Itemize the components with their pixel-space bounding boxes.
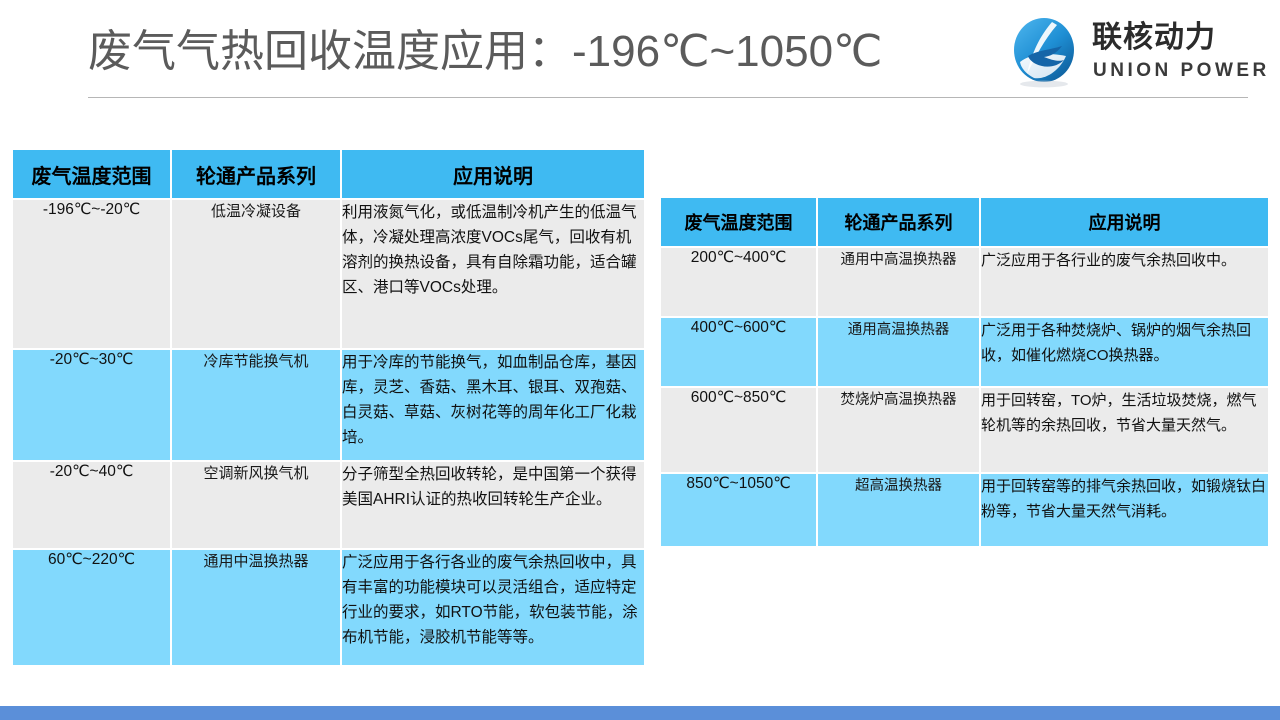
logo-name-cn: 联核动力 — [1092, 22, 1216, 54]
cell-application-note: 利用液氮气化，或低温制冷机产生的低温气体，冷凝处理高浓度VOCs尾气，回收有机溶… — [342, 200, 644, 348]
footer-accent-bar — [0, 706, 1280, 720]
table-row: 850℃~1050℃超高温换热器用于回转窑等的排气余热回收，如锻烧钛白粉等，节省… — [661, 474, 1268, 546]
column-header-product-series: 轮通产品系列 — [172, 150, 340, 198]
table-row: -196℃~-20℃低温冷凝设备利用液氮气化，或低温制冷机产生的低温气体，冷凝处… — [13, 200, 644, 348]
cell-temperature-range: -20℃~30℃ — [13, 350, 170, 460]
cell-application-note: 广泛应用于各行各业的废气余热回收中，具有丰富的功能模块可以灵活组合，适应特定行业… — [342, 550, 644, 665]
cell-product-series: 冷库节能换气机 — [172, 350, 340, 460]
cell-product-series: 焚烧炉高温换热器 — [818, 388, 979, 472]
cell-application-note: 广泛应用于各行业的废气余热回收中。 — [981, 248, 1268, 316]
column-header-application-note: 应用说明 — [342, 150, 644, 198]
column-header-application-note: 应用说明 — [981, 198, 1268, 246]
cell-application-note: 用于回转窑等的排气余热回收，如锻烧钛白粉等，节省大量天然气消耗。 — [981, 474, 1268, 546]
header-divider — [88, 97, 1248, 98]
cell-temperature-range: 400℃~600℃ — [661, 318, 816, 386]
low-temperature-application-table: 废气温度范围 轮通产品系列 应用说明 -196℃~-20℃低温冷凝设备利用液氮气… — [11, 148, 646, 667]
cell-product-series: 通用中高温换热器 — [818, 248, 979, 316]
cell-application-note: 分子筛型全热回收转轮，是中国第一个获得美国AHRI认证的热收回转轮生产企业。 — [342, 462, 644, 548]
table-row: 60℃~220℃通用中温换热器广泛应用于各行各业的废气余热回收中，具有丰富的功能… — [13, 550, 644, 665]
table-row: -20℃~30℃冷库节能换气机用于冷库的节能换气，如血制品仓库，基因库，灵芝、香… — [13, 350, 644, 460]
cell-temperature-range: 200℃~400℃ — [661, 248, 816, 316]
page-header: 废气气热回收温度应用：-196℃~1050℃ — [0, 0, 1280, 100]
cell-temperature-range: -20℃~40℃ — [13, 462, 170, 548]
cell-temperature-range: -196℃~-20℃ — [13, 200, 170, 348]
union-power-globe-logo-icon — [1010, 16, 1082, 88]
cell-temperature-range: 850℃~1050℃ — [661, 474, 816, 546]
table-row: 400℃~600℃通用高温换热器广泛用于各种焚烧炉、锅炉的烟气余热回收，如催化燃… — [661, 318, 1268, 386]
column-header-temperature-range: 废气温度范围 — [661, 198, 816, 246]
column-header-product-series: 轮通产品系列 — [818, 198, 979, 246]
table-row: 600℃~850℃焚烧炉高温换热器用于回转窑，TO炉，生活垃圾焚烧，燃气轮机等的… — [661, 388, 1268, 472]
company-logo: 联核动力 UNION POWER — [1010, 14, 1260, 92]
cell-application-note: 用于回转窑，TO炉，生活垃圾焚烧，燃气轮机等的余热回收，节省大量天然气。 — [981, 388, 1268, 472]
cell-product-series: 超高温换热器 — [818, 474, 979, 546]
column-header-temperature-range: 废气温度范围 — [13, 150, 170, 198]
cell-product-series: 低温冷凝设备 — [172, 200, 340, 348]
table-row: 200℃~400℃通用中高温换热器广泛应用于各行业的废气余热回收中。 — [661, 248, 1268, 316]
high-temperature-application-table: 废气温度范围 轮通产品系列 应用说明 200℃~400℃通用中高温换热器广泛应用… — [659, 196, 1270, 548]
cell-product-series: 通用中温换热器 — [172, 550, 340, 665]
logo-name-en: UNION POWER — [1093, 60, 1270, 82]
table-header-row: 废气温度范围 轮通产品系列 应用说明 — [13, 150, 644, 198]
cell-temperature-range: 600℃~850℃ — [661, 388, 816, 472]
cell-application-note: 用于冷库的节能换气，如血制品仓库，基因库，灵芝、香菇、黑木耳、银耳、双孢菇、白灵… — [342, 350, 644, 460]
table-row: -20℃~40℃空调新风换气机分子筛型全热回收转轮，是中国第一个获得美国AHRI… — [13, 462, 644, 548]
cell-application-note: 广泛用于各种焚烧炉、锅炉的烟气余热回收，如催化燃烧CO换热器。 — [981, 318, 1268, 386]
cell-temperature-range: 60℃~220℃ — [13, 550, 170, 665]
table-header-row: 废气温度范围 轮通产品系列 应用说明 — [661, 198, 1268, 246]
page-title: 废气气热回收温度应用：-196℃~1050℃ — [88, 26, 882, 78]
cell-product-series: 通用高温换热器 — [818, 318, 979, 386]
cell-product-series: 空调新风换气机 — [172, 462, 340, 548]
